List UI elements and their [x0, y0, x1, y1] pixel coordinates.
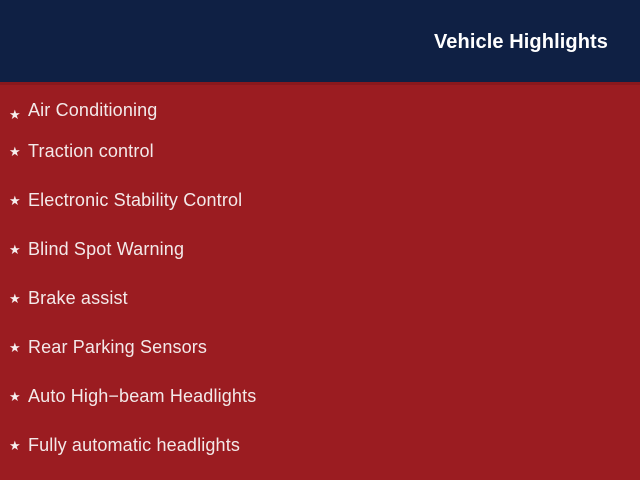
list-item[interactable]: ★ Brake assist	[0, 274, 640, 323]
star-bullet-icon: ★	[9, 439, 28, 452]
star-bullet-icon: ★	[9, 194, 28, 207]
vehicle-highlights-list: ★ Air Conditioning ★ Traction control ★ …	[0, 85, 640, 480]
list-item-label: Fully automatic headlights	[28, 436, 240, 456]
star-bullet-icon: ★	[9, 292, 28, 305]
list-item[interactable]: ★ Auto High−beam Headlights	[0, 372, 640, 421]
list-item[interactable]: ★ Air Conditioning	[0, 85, 640, 127]
star-bullet-icon: ★	[9, 341, 28, 354]
star-bullet-icon: ★	[9, 390, 28, 403]
list-item-label: Traction control	[28, 142, 154, 162]
list-item-label: Rear Parking Sensors	[28, 338, 207, 358]
list-item[interactable]: ★ Blind Spot Warning	[0, 225, 640, 274]
page-title: Vehicle Highlights	[434, 32, 608, 52]
list-item[interactable]: ★ Traction control	[0, 127, 640, 176]
list-item[interactable]: ★ Rear Parking Sensors	[0, 323, 640, 372]
star-bullet-icon: ★	[9, 108, 28, 121]
vehicle-highlights-screen: Vehicle Highlights ★ Air Conditioning ★ …	[0, 0, 640, 480]
list-item[interactable]: ★ Electronic Stability Control	[0, 176, 640, 225]
page-header: Vehicle Highlights	[0, 0, 640, 82]
list-item-label: Brake assist	[28, 289, 128, 309]
list-item-label: Blind Spot Warning	[28, 240, 184, 260]
list-item-label: Auto High−beam Headlights	[28, 387, 256, 407]
list-item-label: Air Conditioning	[28, 101, 157, 121]
star-bullet-icon: ★	[9, 145, 28, 158]
star-bullet-icon: ★	[9, 243, 28, 256]
list-item[interactable]: ★ Fully automatic headlights	[0, 421, 640, 470]
list-item-label: Electronic Stability Control	[28, 191, 242, 211]
